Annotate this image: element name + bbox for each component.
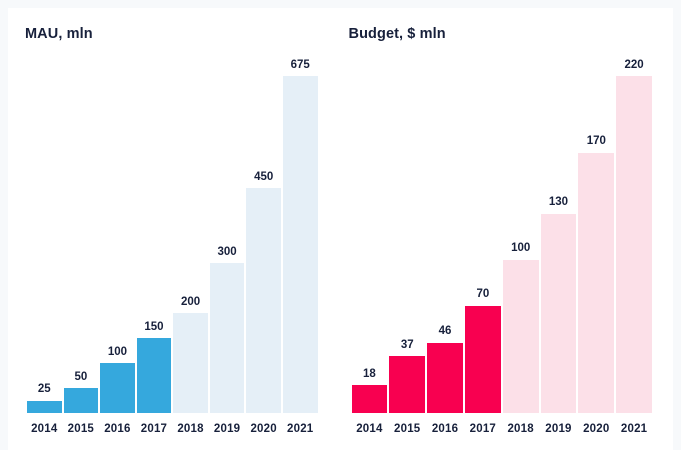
bar-value-label-2015: 50 xyxy=(63,372,100,384)
bar-2018-forecast[interactable] xyxy=(502,260,540,413)
chart-screenshot: MAU, mln 2550100150200300450675 20142015… xyxy=(0,0,681,450)
bar-value-label-2021: 220 xyxy=(615,60,653,72)
chart-mau-title: MAU, mln xyxy=(25,26,93,42)
bar-slot-2018[interactable]: 100 xyxy=(502,58,540,413)
x-tick-2019: 2019 xyxy=(209,423,246,435)
chart-panel: MAU, mln 2550100150200300450675 20142015… xyxy=(8,8,673,450)
bar-2019-forecast[interactable] xyxy=(209,263,246,413)
bar-2014-actual[interactable] xyxy=(26,401,63,413)
bar-slot-2017[interactable]: 150 xyxy=(136,58,173,413)
x-tick-2014: 2014 xyxy=(26,423,63,435)
bar-2017-actual[interactable] xyxy=(464,306,502,413)
bar-value-label-2016: 46 xyxy=(426,326,464,338)
bar-value-label-2018: 100 xyxy=(502,243,540,255)
x-tick-2019: 2019 xyxy=(540,423,578,435)
bar-value-label-2021: 675 xyxy=(282,60,319,72)
x-tick-2015: 2015 xyxy=(63,423,100,435)
bar-2019-forecast[interactable] xyxy=(540,214,578,413)
x-tick-2017: 2017 xyxy=(136,423,173,435)
x-tick-2018: 2018 xyxy=(172,423,209,435)
x-tick-2017: 2017 xyxy=(464,423,502,435)
bar-slot-2019[interactable]: 300 xyxy=(209,58,246,413)
bar-slot-2020[interactable]: 450 xyxy=(245,58,282,413)
bar-slot-2014[interactable]: 25 xyxy=(26,58,63,413)
bar-value-label-2020: 170 xyxy=(577,136,615,148)
x-tick-2015: 2015 xyxy=(388,423,426,435)
bar-value-label-2014: 25 xyxy=(26,384,63,396)
bar-value-label-2019: 130 xyxy=(540,197,578,209)
bar-2015-actual[interactable] xyxy=(63,388,100,413)
bar-slot-2016[interactable]: 46 xyxy=(426,58,464,413)
x-tick-2021: 2021 xyxy=(615,423,653,435)
bar-value-label-2020: 450 xyxy=(245,172,282,184)
bar-2020-forecast[interactable] xyxy=(245,188,282,413)
bar-slot-2019[interactable]: 130 xyxy=(540,58,578,413)
chart-budget-plot: 18374670100130170220 xyxy=(351,58,654,413)
bar-value-label-2014: 18 xyxy=(351,369,389,381)
bar-2020-forecast[interactable] xyxy=(577,153,615,413)
chart-mau-plot: 2550100150200300450675 xyxy=(26,58,319,413)
bar-slot-2015[interactable]: 37 xyxy=(388,58,426,413)
bar-2014-actual[interactable] xyxy=(351,385,389,413)
x-tick-2021: 2021 xyxy=(282,423,319,435)
bar-value-label-2016: 100 xyxy=(99,347,136,359)
bar-2016-actual[interactable] xyxy=(426,343,464,413)
bar-slot-2020[interactable]: 170 xyxy=(577,58,615,413)
x-tick-2020: 2020 xyxy=(577,423,615,435)
bar-slot-2017[interactable]: 70 xyxy=(464,58,502,413)
bar-value-label-2019: 300 xyxy=(209,247,246,259)
bar-value-label-2015: 37 xyxy=(388,340,426,352)
bar-slot-2014[interactable]: 18 xyxy=(351,58,389,413)
bar-slot-2021[interactable]: 220 xyxy=(615,58,653,413)
charts-row: MAU, mln 2550100150200300450675 20142015… xyxy=(8,8,673,450)
bar-slot-2018[interactable]: 200 xyxy=(172,58,209,413)
x-tick-2020: 2020 xyxy=(245,423,282,435)
x-tick-2018: 2018 xyxy=(502,423,540,435)
bar-slot-2015[interactable]: 50 xyxy=(63,58,100,413)
bar-value-label-2017: 150 xyxy=(136,322,173,334)
x-tick-2016: 2016 xyxy=(426,423,464,435)
bar-2017-actual[interactable] xyxy=(136,338,173,413)
x-tick-2016: 2016 xyxy=(99,423,136,435)
bar-2021-forecast[interactable] xyxy=(282,76,319,413)
chart-budget-title: Budget, $ mln xyxy=(349,26,446,42)
bar-value-label-2018: 200 xyxy=(172,297,209,309)
chart-budget-x-axis: 20142015201620172018201920202021 xyxy=(351,418,654,440)
chart-mau-x-axis: 20142015201620172018201920202021 xyxy=(26,418,319,440)
bar-2021-forecast[interactable] xyxy=(615,76,653,413)
bar-slot-2021[interactable]: 675 xyxy=(282,58,319,413)
chart-mau: MAU, mln 2550100150200300450675 20142015… xyxy=(8,8,341,450)
bar-value-label-2017: 70 xyxy=(464,289,502,301)
bar-slot-2016[interactable]: 100 xyxy=(99,58,136,413)
x-tick-2014: 2014 xyxy=(351,423,389,435)
bar-2016-actual[interactable] xyxy=(99,363,136,413)
chart-budget: Budget, $ mln 18374670100130170220 20142… xyxy=(341,8,674,450)
bar-2018-forecast[interactable] xyxy=(172,313,209,413)
bar-2015-actual[interactable] xyxy=(388,356,426,413)
